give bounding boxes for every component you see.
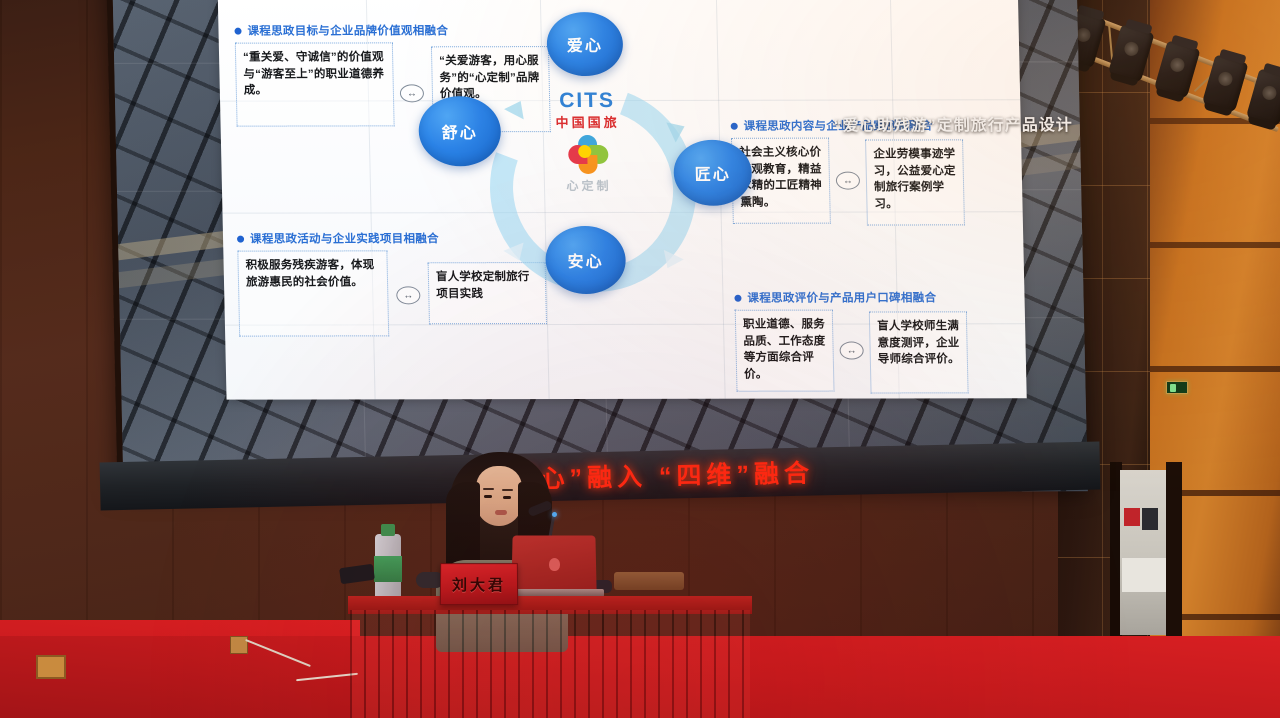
bullet-dot-icon xyxy=(734,294,741,301)
cits-logo-chinese: 中国国旅 xyxy=(532,112,642,131)
water-bottle-cap xyxy=(381,524,395,536)
connector-icon-activity-practice: ↔ xyxy=(396,286,420,304)
textbox-evaluation-reputation-left: 职业道德、服务品质、工作态度等方面综合评价。 xyxy=(735,310,835,392)
cits-logo-mark-icon xyxy=(567,135,610,175)
connector-icon-goal-brand: ↔ xyxy=(400,84,424,102)
doorway-desk xyxy=(1122,558,1166,592)
textbox-goal-brand-left: “重关爱、守诚信”的价值观与“游客至上”的职业道德养成。 xyxy=(235,42,395,126)
presentation-slide: 课程思政目标与企业品牌价值观相融合 “重关爱、守诚信”的价值观与“游客至上”的职… xyxy=(218,0,1027,400)
slide-outside-header: “爱心助残游”定制旅行产品设计 xyxy=(833,111,1073,135)
textbox-evaluation-reputation-right: 盲人学校师生满意度测评，企业导师综合评价。 xyxy=(869,311,969,393)
connector-icon-evaluation-reputation: ↔ xyxy=(839,342,863,360)
presenter-face xyxy=(476,466,522,526)
section-heading-activity-practice: 课程思政活动与企业实践项目相融合 xyxy=(237,230,439,246)
cits-logo-subtitle: 心定制 xyxy=(534,177,644,194)
microphone-indicator-led xyxy=(552,512,557,517)
textbox-content-product-right: 企业劳模事迹学习，公益爱心定制旅行案例学习。 xyxy=(865,139,965,225)
documents-on-table xyxy=(614,572,684,590)
section-heading-evaluation-reputation: 课程思政评价与产品用户口碑相融合 xyxy=(734,289,936,305)
flow-arrow-icon xyxy=(658,250,684,273)
laptop-brand-logo-icon xyxy=(549,558,560,571)
section-heading-text: 课程思政目标与企业品牌价值观相融合 xyxy=(247,22,448,38)
led-video-wall: 课程思政目标与企业品牌价值观相融合 “重关爱、守诚信”的价值观与“游客至上”的职… xyxy=(106,0,1088,493)
presenter-nameplate-text: 刘大君 xyxy=(452,574,506,595)
floor-socket xyxy=(36,655,66,679)
circle-jiangxin[interactable]: 匠心 xyxy=(673,140,752,206)
presenter-nameplate: 刘大君 xyxy=(440,563,518,605)
section-heading-text: 课程思政评价与产品用户口碑相融合 xyxy=(747,289,936,305)
connector-icon-content-product: ↔ xyxy=(836,172,860,190)
conference-room-scene: 课程思政目标与企业品牌价值观相融合 “重关爱、守诚信”的价值观与“游客至上”的职… xyxy=(0,0,1280,718)
bullet-dot-icon xyxy=(234,27,241,34)
circle-anxin[interactable]: 安心 xyxy=(545,226,626,294)
circle-shuxin[interactable]: 舒心 xyxy=(418,96,502,166)
cits-logo-latin: CITS xyxy=(532,90,642,111)
textbox-activity-practice-left: 积极服务残疾游客，体现旅游惠民的社会价值。 xyxy=(237,250,389,336)
cits-logo: CITS 中国国旅 心定制 xyxy=(532,90,644,194)
section-heading-goal-brand: 课程思政目标与企业品牌价值观相融合 xyxy=(234,22,448,38)
door-frame-right xyxy=(1166,462,1182,640)
emergency-exit-sign-icon xyxy=(1166,381,1188,394)
water-bottle-label xyxy=(374,556,402,582)
doorway-red-equipment xyxy=(1124,508,1140,526)
presenter-mouth xyxy=(495,510,507,515)
bullet-dot-icon xyxy=(237,235,244,242)
section-heading-text: 课程思政活动与企业实践项目相融合 xyxy=(250,230,439,246)
circle-aixin[interactable]: 爱心 xyxy=(546,12,623,76)
open-doorway xyxy=(1120,470,1168,635)
textbox-activity-practice-right: 盲人学校定制旅行项目实践 xyxy=(428,262,547,324)
bullet-dot-icon xyxy=(731,122,738,129)
doorway-monitor xyxy=(1142,508,1158,530)
table-skirt xyxy=(350,610,750,718)
